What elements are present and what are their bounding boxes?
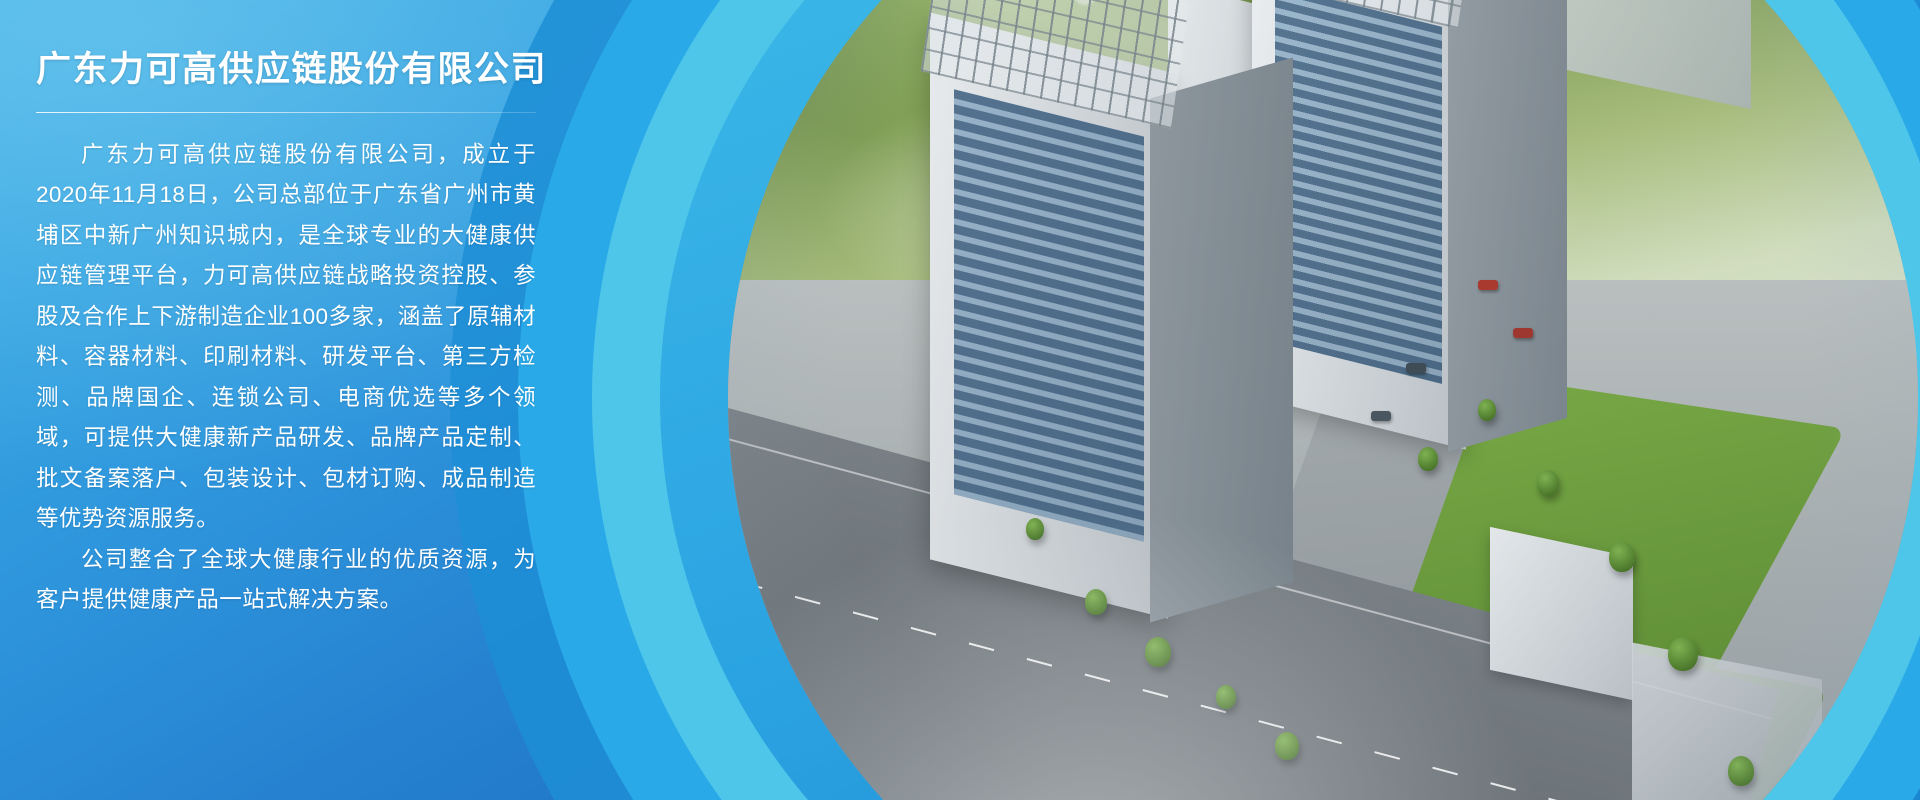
company-profile-banner: 广东力可高供应链股份有限公司 广东力可高供应链股份有限公司，成立于2020年11…	[0, 0, 1920, 800]
page-title: 广东力可高供应链股份有限公司	[36, 48, 536, 92]
photo-atmospheric-haze	[728, 0, 1918, 800]
title-divider	[36, 112, 536, 113]
facility-photo	[728, 0, 1918, 800]
facility-photo-content	[728, 0, 1918, 800]
company-description-paragraph-1: 广东力可高供应链股份有限公司，成立于2020年11月18日，公司总部位于广东省广…	[36, 135, 536, 540]
company-description-paragraph-2: 公司整合了全球大健康行业的优质资源，为客户提供健康产品一站式解决方案。	[36, 540, 536, 621]
text-column: 广东力可高供应链股份有限公司 广东力可高供应链股份有限公司，成立于2020年11…	[36, 48, 536, 621]
